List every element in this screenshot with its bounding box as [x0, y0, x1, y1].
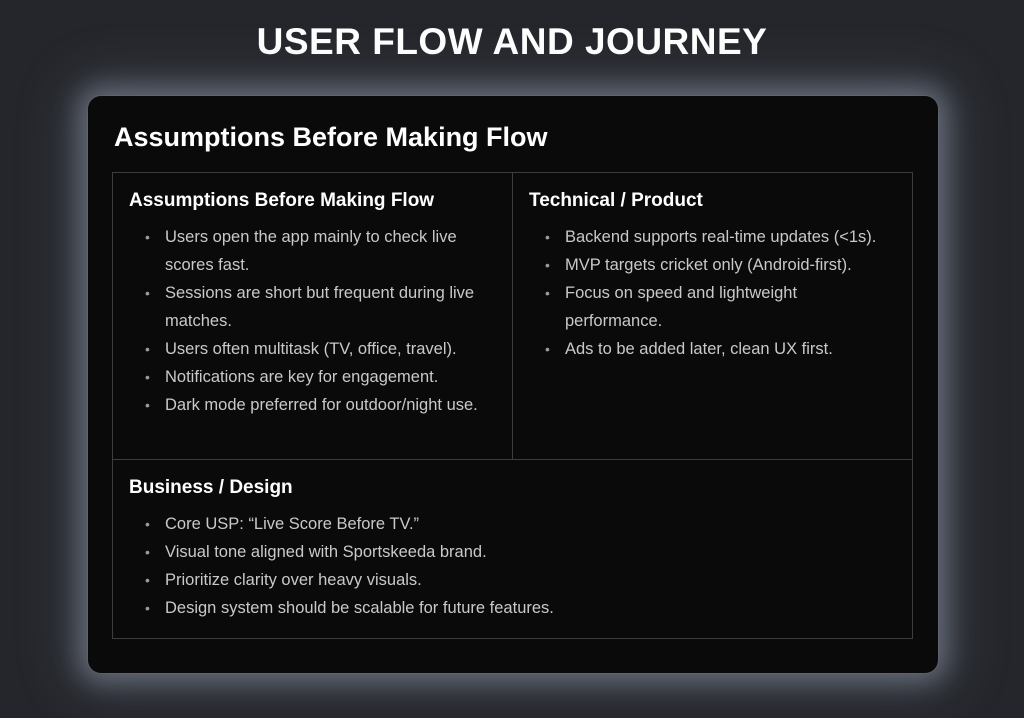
assumptions-grid: Assumptions Before Making Flow Users ope…: [112, 172, 913, 639]
cell-assumptions-before-making-flow: Assumptions Before Making Flow Users ope…: [113, 173, 513, 460]
list-item: Core USP: “Live Score Before TV.”: [141, 510, 896, 538]
bullet-list-assumptions: Users open the app mainly to check live …: [127, 223, 496, 419]
list-item: Visual tone aligned with Sportskeeda bra…: [141, 538, 896, 566]
page-title: USER FLOW AND JOURNEY: [0, 20, 1024, 64]
list-item: Dark mode preferred for outdoor/night us…: [141, 391, 496, 419]
list-item: Users open the app mainly to check live …: [141, 223, 496, 279]
grid-row-top: Assumptions Before Making Flow Users ope…: [113, 173, 913, 460]
section-heading-technical-product: Technical / Product: [527, 189, 896, 213]
list-item: Users often multitask (TV, office, trave…: [141, 335, 496, 363]
bullet-list-business-design: Core USP: “Live Score Before TV.” Visual…: [127, 510, 896, 622]
list-item: Design system should be scalable for fut…: [141, 594, 896, 622]
list-item: Prioritize clarity over heavy visuals.: [141, 566, 896, 594]
list-item: Focus on speed and lightweight performan…: [541, 279, 896, 335]
card-heading: Assumptions Before Making Flow: [112, 120, 914, 154]
list-item: Ads to be added later, clean UX first.: [541, 335, 896, 363]
list-item: Notifications are key for engagement.: [141, 363, 496, 391]
assumptions-card: Assumptions Before Making Flow Assumptio…: [88, 96, 938, 673]
grid-row-bottom: Business / Design Core USP: “Live Score …: [113, 460, 913, 639]
list-item: Backend supports real-time updates (<1s)…: [541, 223, 896, 251]
section-heading-business-design: Business / Design: [127, 476, 896, 500]
list-item: Sessions are short but frequent during l…: [141, 279, 496, 335]
bullet-list-technical-product: Backend supports real-time updates (<1s)…: [527, 223, 896, 363]
list-item: MVP targets cricket only (Android-first)…: [541, 251, 896, 279]
cell-business-design: Business / Design Core USP: “Live Score …: [113, 460, 913, 639]
section-heading-assumptions: Assumptions Before Making Flow: [127, 189, 496, 213]
cell-technical-product: Technical / Product Backend supports rea…: [513, 173, 913, 460]
